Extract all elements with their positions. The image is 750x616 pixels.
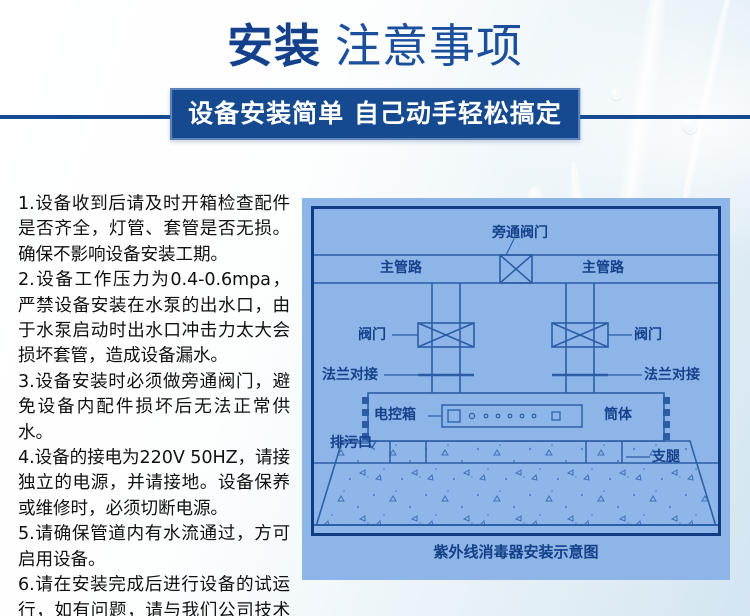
diagram-label-drain-outlet: 排污口	[330, 435, 372, 452]
diagram-label-support-leg: 支腿	[652, 449, 680, 466]
diagram-frame: 旁通阀门 主管路 主管路 阀门 阀门 法兰对接 法兰对接 电控箱 筒体 排污口 …	[311, 206, 721, 536]
note-item-1: 1.设备收到后请及时开箱检查配件是否齐全，灯管、套管是否无损。确保不影响设备安装…	[18, 192, 290, 268]
diagram-label-flange-left: 法兰对接	[322, 367, 378, 384]
page-title: 安装注意事项	[0, 18, 750, 74]
diagram-caption: 紫外线消毒器安装示意图	[302, 542, 730, 562]
diagram-label-bypass-valve: 旁通阀门	[492, 225, 548, 242]
diagram-label-valve-left: 阀门	[358, 327, 386, 344]
page-header: 安装注意事项 设备安装简单 自己动手轻松搞定	[0, 0, 750, 150]
diagram-panel: 旁通阀门 主管路 主管路 阀门 阀门 法兰对接 法兰对接 电控箱 筒体 排污口 …	[302, 198, 730, 580]
note-item-4: 4.设备的接电为220V 50HZ，请接独立的电源，并请接地。设备保养或维修时，…	[18, 446, 290, 522]
page-title-light: 注意事项	[335, 19, 523, 73]
diagram-label-main-pipe-left: 主管路	[380, 260, 422, 277]
diagram-label-cylinder-body: 筒体	[604, 407, 632, 424]
note-item-5: 5.请确保管道内有水流通过，方可启用设备。	[18, 522, 290, 573]
diagram-label-valve-right: 阀门	[634, 327, 662, 344]
subtitle-text: 设备安装简单 自己动手轻松搞定	[188, 98, 562, 129]
note-item-6: 6.请在安装完成后进行设备的试运行，如有问题，请与我们公司技术人员进行联系。	[18, 573, 290, 616]
note-item-3: 3.设备安装时必须做旁通阀门，避免设备内配件损坏后无法正常供水。	[18, 370, 290, 446]
note-item-2: 2.设备工作压力为0.4-0.6mpa，严禁设备安装在水泵的出水口，由于水泵启动…	[18, 268, 290, 370]
diagram-label-flange-right: 法兰对接	[644, 367, 700, 384]
subtitle-banner: 设备安装简单 自己动手轻松搞定	[170, 88, 580, 140]
page-root: 安装注意事项 设备安装简单 自己动手轻松搞定 1.设备收到后请及时开箱检查配件是…	[0, 0, 750, 616]
diagram-label-control-box: 电控箱	[374, 407, 416, 424]
installation-notes-list: 1.设备收到后请及时开箱检查配件是否齐全，灯管、套管是否无损。确保不影响设备安装…	[18, 192, 290, 616]
page-title-strong: 安装	[227, 19, 321, 73]
diagram-label-main-pipe-right: 主管路	[582, 260, 624, 277]
